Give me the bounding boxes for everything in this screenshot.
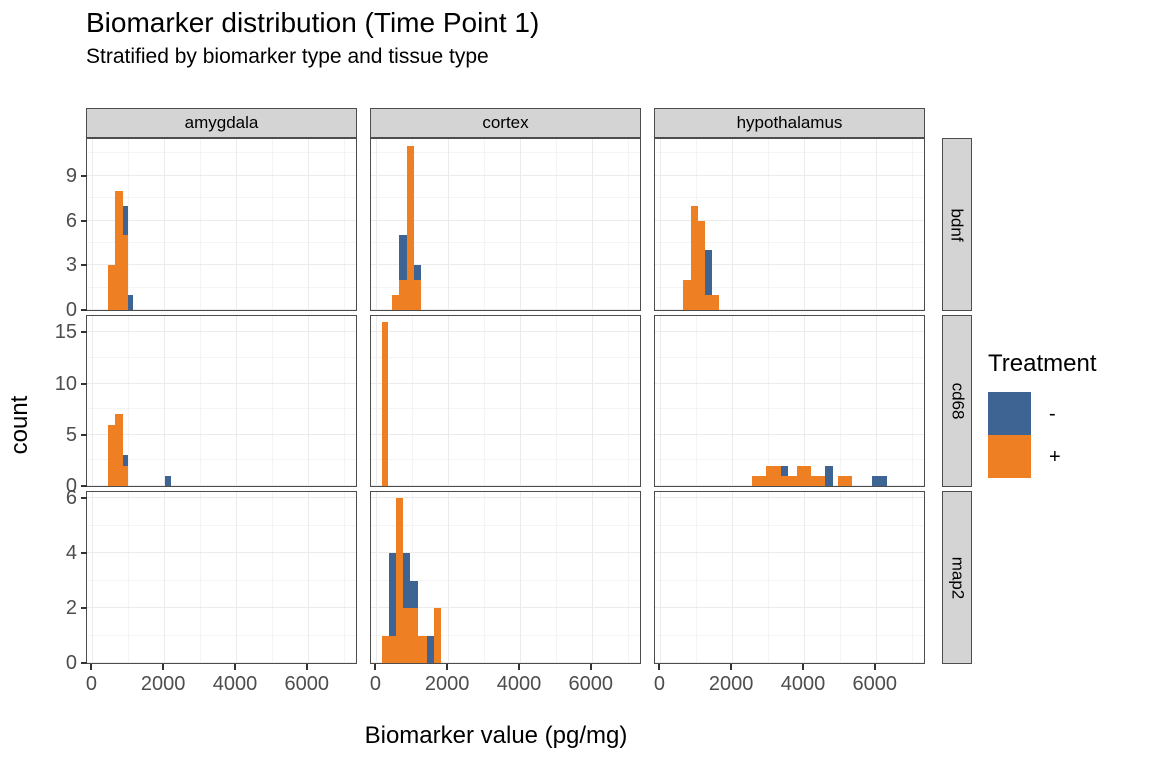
histogram-bar-plus xyxy=(797,466,811,486)
histogram-bar-plus xyxy=(108,265,115,310)
histogram-bar-plus xyxy=(392,295,399,310)
gridline-major-v xyxy=(732,316,733,486)
x-tick-mark xyxy=(234,664,236,670)
histogram-bar-minus xyxy=(705,250,712,295)
page-title: Biomarker distribution (Time Point 1) xyxy=(86,6,986,40)
gridline-major-v xyxy=(804,316,805,486)
gridline-minor-v xyxy=(200,316,201,486)
histogram-bar-plus xyxy=(781,476,788,486)
histogram-bar-plus xyxy=(418,636,427,663)
x-tick-mark xyxy=(162,664,164,670)
histogram-bar-minus xyxy=(781,466,788,476)
gridline-major-h xyxy=(87,434,356,435)
gridline-major-v xyxy=(804,492,805,663)
facet-row-bdnf: 0369bdnf xyxy=(86,138,972,311)
gridline-major-h xyxy=(655,175,924,176)
histogram-bar-plus xyxy=(811,476,825,486)
x-tick-mark xyxy=(90,664,92,670)
chart-root: Biomarker distribution (Time Point 1) St… xyxy=(0,0,1152,768)
gridline-major-v xyxy=(308,139,309,310)
histogram-bar-plus xyxy=(683,280,690,310)
histogram-bar-plus xyxy=(396,498,403,663)
y-tick-label: 0 xyxy=(66,651,77,675)
x-tick-label: 4000 xyxy=(213,672,258,696)
gridline-major-v xyxy=(448,316,449,486)
histogram-bar-plus xyxy=(414,280,421,310)
x-tick-mark xyxy=(518,664,520,670)
gridline-major-v xyxy=(592,139,593,310)
gridline-major-h xyxy=(87,607,356,608)
y-tick-label: 3 xyxy=(66,253,77,277)
x-tick-label: 4000 xyxy=(781,672,826,696)
gridline-major-h xyxy=(87,552,356,553)
gridline-minor-v xyxy=(484,139,485,310)
x-tick-label: 0 xyxy=(86,672,97,696)
gridline-minor-v xyxy=(272,139,273,310)
gridline-minor-v xyxy=(628,492,629,663)
panel-cd68-hypothalamus xyxy=(654,315,925,487)
gridline-major-v xyxy=(376,139,377,310)
y-tick-label: 9 xyxy=(66,164,77,188)
x-tick-mark xyxy=(874,664,876,670)
facet-row-map2: 0246map2 xyxy=(86,491,972,664)
gridline-major-v xyxy=(92,316,93,486)
y-tick-mark xyxy=(81,220,87,222)
y-tick-label: 6 xyxy=(66,209,77,233)
histogram-bar-plus xyxy=(382,636,389,663)
histogram-bar-plus xyxy=(838,476,852,486)
x-tick-label: 2000 xyxy=(709,672,754,696)
strip-corner-spacer xyxy=(938,108,972,138)
y-tick-label: 15 xyxy=(55,320,77,344)
gridline-major-v xyxy=(92,139,93,310)
panel-map2-hypothalamus xyxy=(654,491,925,664)
gridline-major-v xyxy=(308,316,309,486)
gridline-major-h xyxy=(371,497,640,498)
y-tick-label: 4 xyxy=(66,541,77,565)
histogram-bar-plus xyxy=(410,608,417,663)
page-subtitle: Stratified by biomarker type and tissue … xyxy=(86,43,986,71)
histogram-bar-plus xyxy=(691,206,698,310)
legend-label: + xyxy=(1049,447,1061,467)
y-tick-mark xyxy=(81,264,87,266)
x-tick-mark xyxy=(374,664,376,670)
gridline-major-v xyxy=(660,139,661,310)
gridline-minor-v xyxy=(272,316,273,486)
y-tick-label: 10 xyxy=(55,372,77,396)
y-tick-mark xyxy=(81,383,87,385)
histogram-bar-minus xyxy=(399,235,406,280)
gridline-minor-v xyxy=(200,492,201,663)
gridline-major-v xyxy=(660,492,661,663)
gridline-major-v xyxy=(520,139,521,310)
gridline-major-v xyxy=(308,492,309,663)
gridline-major-h xyxy=(655,331,924,332)
histogram-bar-plus xyxy=(407,146,414,310)
histogram-bar-plus xyxy=(698,221,705,310)
facet-col-strips: amygdalacortexhypothalamus xyxy=(86,108,972,138)
panel-map2-amygdala: 0246 xyxy=(86,491,357,664)
x-tick-label: 6000 xyxy=(284,672,329,696)
panel-cd68-cortex xyxy=(370,315,641,487)
gridline-minor-v xyxy=(556,139,557,310)
gridline-minor-v xyxy=(628,139,629,310)
x-tick-label: 6000 xyxy=(852,672,897,696)
gridline-minor-v xyxy=(128,492,129,663)
gridline-major-v xyxy=(592,316,593,486)
gridline-major-h xyxy=(371,331,640,332)
gridline-minor-v xyxy=(840,492,841,663)
histogram-bar-plus xyxy=(752,476,766,486)
legend: Treatment -+ xyxy=(988,350,1138,478)
histogram-bar-plus xyxy=(399,280,406,310)
gridline-major-v xyxy=(804,139,805,310)
gridline-major-h xyxy=(371,552,640,553)
gridline-major-v xyxy=(592,492,593,663)
gridline-major-v xyxy=(448,139,449,310)
gridline-major-v xyxy=(732,492,733,663)
y-tick-mark xyxy=(81,552,87,554)
x-tick-label: 0 xyxy=(654,672,665,696)
gridline-minor-v xyxy=(412,316,413,486)
gridline-major-v xyxy=(876,492,877,663)
histogram-bar-plus xyxy=(705,295,712,310)
gridline-minor-v xyxy=(768,139,769,310)
panel-map2-cortex xyxy=(370,491,641,664)
facet-row-strip-map2: map2 xyxy=(942,491,972,664)
gridline-major-v xyxy=(376,316,377,486)
gridline-major-v xyxy=(236,139,237,310)
gridline-minor-v xyxy=(344,316,345,486)
legend-key-swatch xyxy=(988,435,1031,478)
histogram-bar-plus xyxy=(115,414,122,486)
y-axis-map2: 0246 xyxy=(27,492,87,663)
gridline-minor-v xyxy=(272,492,273,663)
gridline-major-v xyxy=(876,316,877,486)
legend-key-swatch xyxy=(988,392,1031,435)
gridline-minor-v xyxy=(128,316,129,486)
facet-grid: amygdalacortexhypothalamus0369bdnf051015… xyxy=(86,108,972,698)
gridline-minor-v xyxy=(484,492,485,663)
legend-item[interactable]: + xyxy=(988,435,1138,478)
gridline-major-v xyxy=(520,492,521,663)
gridline-major-h xyxy=(87,662,356,663)
facet-col-strip-hypothalamus: hypothalamus xyxy=(654,108,925,138)
facet-row-strip-bdnf: bdnf xyxy=(942,138,972,311)
legend-title: Treatment xyxy=(988,350,1138,378)
histogram-bar-minus xyxy=(389,553,396,635)
gridline-minor-v xyxy=(696,316,697,486)
histogram-bar-minus xyxy=(165,476,171,486)
gridline-major-v xyxy=(660,316,661,486)
histogram-bar-minus xyxy=(128,295,133,310)
histogram-bar-minus xyxy=(123,455,129,465)
histogram-bar-plus xyxy=(115,191,122,310)
y-axis-cd68: 051015 xyxy=(27,316,87,486)
gridline-major-v xyxy=(376,492,377,663)
y-axis-bdnf: 0369 xyxy=(27,139,87,310)
x-axis-cortex: 0200040006000 xyxy=(370,664,641,698)
facet-row-strip-label: map2 xyxy=(947,556,967,599)
gridline-major-v xyxy=(236,492,237,663)
gridline-major-h xyxy=(655,497,924,498)
gridline-major-h xyxy=(87,383,356,384)
gridline-major-v xyxy=(448,492,449,663)
y-tick-mark xyxy=(81,331,87,333)
histogram-bar-minus xyxy=(872,476,886,486)
gridline-major-h xyxy=(371,485,640,486)
panel-bdnf-amygdala: 0369 xyxy=(86,138,357,311)
histogram-bar-plus xyxy=(108,425,115,486)
x-tick-mark xyxy=(658,664,660,670)
histogram-bar-plus xyxy=(766,466,780,486)
histogram-bar-minus xyxy=(403,553,410,608)
histogram-bar-minus xyxy=(427,636,434,663)
gridline-major-h xyxy=(655,607,924,608)
x-tick-label: 4000 xyxy=(497,672,542,696)
x-axis-title: Biomarker value (pg/mg) xyxy=(86,722,906,750)
histogram-bar-plus xyxy=(788,476,797,486)
gridline-minor-v xyxy=(200,139,201,310)
gridline-major-v xyxy=(164,492,165,663)
histogram-bar-plus xyxy=(123,466,129,486)
gridline-minor-v xyxy=(128,139,129,310)
gridline-major-h xyxy=(87,331,356,332)
histogram-bar-plus xyxy=(712,295,719,310)
facet-row-strip-label: bdnf xyxy=(947,208,967,241)
gridline-minor-v xyxy=(556,492,557,663)
y-tick-mark xyxy=(81,309,87,311)
histogram-bar-plus xyxy=(434,608,441,663)
facet-row-cd68: 051015cd68 xyxy=(86,315,972,487)
gridline-minor-v xyxy=(768,316,769,486)
x-tick-mark xyxy=(306,664,308,670)
gridline-major-h xyxy=(655,434,924,435)
x-axis-amygdala: 0200040006000 xyxy=(86,664,357,698)
gridline-major-v xyxy=(164,139,165,310)
legend-items: -+ xyxy=(988,392,1138,478)
y-tick-mark xyxy=(81,497,87,499)
y-tick-mark xyxy=(81,434,87,436)
gridline-minor-v xyxy=(912,139,913,310)
facet-row-strip-cd68: cd68 xyxy=(942,315,972,487)
histogram-bar-minus xyxy=(410,581,417,608)
legend-label: - xyxy=(1049,404,1056,424)
x-tick-label: 2000 xyxy=(141,672,186,696)
y-tick-label: 5 xyxy=(66,423,77,447)
gridline-minor-v xyxy=(628,316,629,486)
gridline-major-h xyxy=(655,383,924,384)
gridline-minor-v xyxy=(556,316,557,486)
panel-bdnf-hypothalamus xyxy=(654,138,925,311)
x-tick-mark xyxy=(446,664,448,670)
histogram-bar-plus xyxy=(403,608,410,663)
legend-item[interactable]: - xyxy=(988,392,1138,435)
histogram-bar-plus xyxy=(389,636,396,663)
gridline-major-v xyxy=(92,492,93,663)
gridline-major-h xyxy=(87,497,356,498)
x-axis-row: 020004000600002000400060000200040006000 xyxy=(86,664,972,698)
facet-col-strip-amygdala: amygdala xyxy=(86,108,357,138)
y-tick-mark xyxy=(81,607,87,609)
gridline-minor-v xyxy=(344,492,345,663)
x-tick-label: 2000 xyxy=(425,672,470,696)
x-tick-mark xyxy=(590,664,592,670)
x-tick-mark xyxy=(802,664,804,670)
gridline-minor-v xyxy=(912,316,913,486)
gridline-minor-v xyxy=(344,139,345,310)
y-tick-label: 6 xyxy=(66,486,77,510)
gridline-major-h xyxy=(655,662,924,663)
gridline-major-v xyxy=(164,316,165,486)
y-tick-mark xyxy=(81,175,87,177)
histogram-bar-plus xyxy=(382,322,388,486)
histogram-bar-minus xyxy=(825,466,832,486)
x-tick-label: 0 xyxy=(370,672,381,696)
facet-row-strip-label: cd68 xyxy=(947,383,967,420)
gridline-minor-v xyxy=(840,139,841,310)
x-tick-mark xyxy=(730,664,732,670)
panel-bdnf-cortex xyxy=(370,138,641,311)
gridline-major-h xyxy=(655,552,924,553)
facet-col-strip-cortex: cortex xyxy=(370,108,641,138)
x-tick-label: 6000 xyxy=(568,672,613,696)
title-block: Biomarker distribution (Time Point 1) St… xyxy=(86,6,986,71)
histogram-bar-minus xyxy=(414,265,421,280)
gridline-minor-v xyxy=(912,492,913,663)
gridline-major-v xyxy=(520,316,521,486)
y-tick-mark xyxy=(81,485,87,487)
panel-cd68-amygdala: 051015 xyxy=(86,315,357,487)
gridline-minor-v xyxy=(840,316,841,486)
gridline-minor-v xyxy=(484,316,485,486)
gridline-major-h xyxy=(371,434,640,435)
x-axis-hypothalamus: 0200040006000 xyxy=(654,664,925,698)
gridline-major-h xyxy=(371,383,640,384)
gridline-major-v xyxy=(876,139,877,310)
y-tick-label: 2 xyxy=(66,596,77,620)
gridline-major-v xyxy=(732,139,733,310)
gridline-minor-v xyxy=(768,492,769,663)
gridline-major-v xyxy=(236,316,237,486)
histogram-bar-minus xyxy=(123,206,129,236)
gridline-major-h xyxy=(87,175,356,176)
gridline-minor-v xyxy=(696,492,697,663)
